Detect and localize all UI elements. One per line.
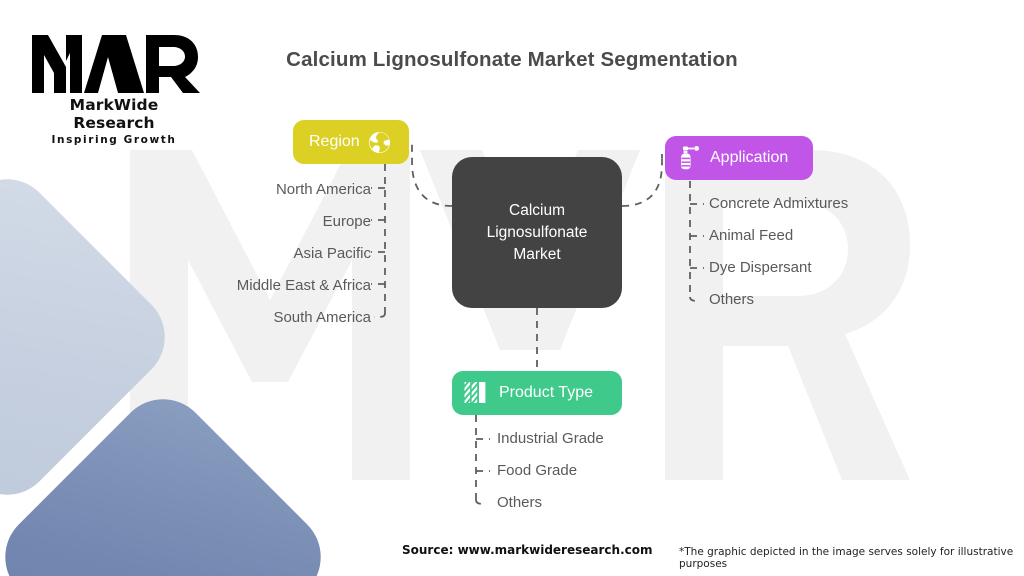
leaf-product-type-0[interactable]: Industrial Grade (497, 431, 604, 447)
leaf-application-3[interactable]: Others (709, 292, 754, 308)
leaf-region-2[interactable]: Asia Pacific (71, 245, 371, 262)
leaf-product-type-1[interactable]: Food Grade (497, 463, 577, 479)
branch-badge-region[interactable]: Region (293, 120, 409, 164)
leaf-product-type-2[interactable]: Others (497, 495, 542, 511)
globe-icon (368, 131, 391, 154)
center-line-3: Market (513, 246, 560, 263)
branch-label-region: Region (309, 133, 360, 151)
center-node-label: Calcium Lignosulfonate Market (473, 200, 602, 266)
decor-square-dark (0, 380, 340, 576)
leaf-region-4[interactable]: South America (71, 309, 371, 326)
source-label[interactable]: Source: www.markwideresearch.com (402, 543, 652, 557)
center-line-2: Lignosulfonate (487, 224, 588, 241)
branch-badge-product-type[interactable]: Product Type (452, 371, 622, 415)
center-line-1: Calcium (509, 202, 565, 219)
branch-badge-application[interactable]: Application (665, 136, 813, 180)
leaf-region-0[interactable]: North America (71, 181, 371, 198)
segmentation-infographic: MarkWide Research Inspiring Growth Calci… (0, 0, 1024, 576)
disclaimer-note: *The graphic depicted in the image serve… (679, 546, 1024, 570)
logo-tagline: Inspiring Growth (28, 134, 200, 146)
spray-bottle-icon (677, 145, 701, 171)
page-title: Calcium Lignosulfonate Market Segmentati… (0, 48, 1024, 72)
leaf-application-1[interactable]: Animal Feed (709, 228, 793, 244)
leaf-region-1[interactable]: Europe (71, 213, 371, 230)
logo-company-name: MarkWide Research (28, 96, 200, 132)
leaf-application-2[interactable]: Dye Dispersant (709, 260, 812, 276)
leaf-region-3[interactable]: Middle East & Africa (71, 277, 371, 294)
leaf-application-0[interactable]: Concrete Admixtures (709, 196, 848, 212)
branch-label-product-type: Product Type (499, 384, 593, 402)
branch-label-application: Application (710, 149, 788, 167)
striped-bars-icon (463, 380, 489, 406)
center-node[interactable]: Calcium Lignosulfonate Market (452, 157, 622, 308)
